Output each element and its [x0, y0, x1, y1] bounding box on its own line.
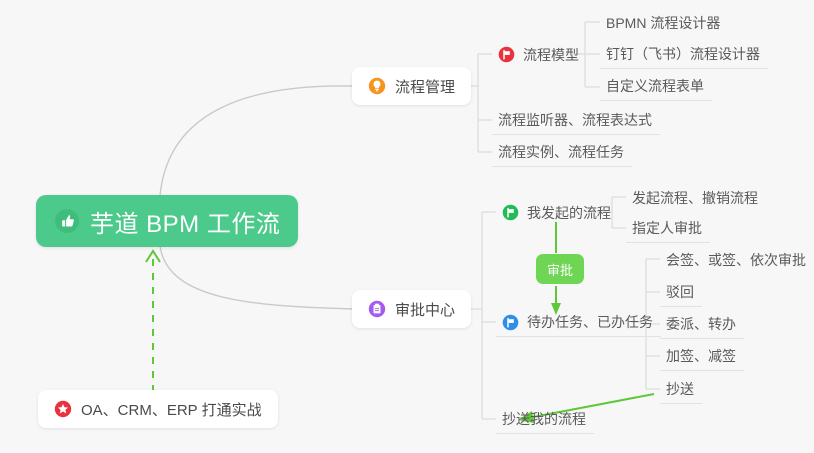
node-label-cc: 抄送 — [666, 379, 694, 399]
node-label-reject: 驳回 — [666, 282, 694, 302]
node-label-add-remove-sign: 加签、减签 — [666, 346, 736, 366]
node-label-my-initiated-process: 我发起的流程 — [527, 203, 611, 223]
node-process-instance-task[interactable]: 流程实例、流程任务 — [492, 138, 632, 167]
branch-label-process-management: 流程管理 — [395, 76, 455, 97]
star-icon — [54, 400, 72, 418]
node-label-countersign: 会签、或签、依次审批 — [666, 250, 806, 270]
node-process-model[interactable]: 流程模型 — [492, 40, 587, 69]
clipboard-icon — [368, 300, 386, 318]
node-add-remove-sign[interactable]: 加签、减签 — [660, 342, 744, 371]
root-node[interactable]: 芋道 BPM 工作流 — [36, 195, 298, 247]
node-cc-to-me-process[interactable]: 抄送我的流程 — [496, 405, 594, 434]
flag-icon — [498, 46, 515, 63]
node-bpmn-designer[interactable]: BPMN 流程设计器 — [600, 8, 728, 37]
integration-node-label: OA、CRM、ERP 打通实战 — [81, 399, 262, 420]
branch-node-process-management[interactable]: 流程管理 — [352, 67, 471, 105]
approval-badge[interactable]: 审批 — [536, 254, 584, 284]
node-label-process-model: 流程模型 — [523, 45, 579, 65]
node-label-custom-process-form: 自定义流程表单 — [606, 76, 704, 96]
node-label-process-instance-task: 流程实例、流程任务 — [498, 142, 624, 162]
node-label-delegate-transfer: 委派、转办 — [666, 314, 736, 334]
node-countersign[interactable]: 会签、或签、依次审批 — [660, 245, 814, 274]
lightbulb-icon — [368, 77, 386, 95]
node-start-cancel-process[interactable]: 发起流程、撤销流程 — [626, 183, 766, 212]
node-label-start-cancel-process: 发起流程、撤销流程 — [632, 188, 758, 208]
node-label-todo-done-tasks: 待办任务、已办任务 — [527, 312, 653, 332]
node-label-dingtalk-feishu-designer: 钉钉（飞书）流程设计器 — [606, 44, 760, 64]
flag-icon — [502, 314, 519, 331]
node-todo-done-tasks[interactable]: 待办任务、已办任务 — [496, 308, 661, 337]
node-delegate-transfer[interactable]: 委派、转办 — [660, 310, 744, 339]
arrowhead-up — [146, 251, 160, 262]
node-label-assignee-approval: 指定人审批 — [632, 218, 702, 238]
node-my-initiated-process[interactable]: 我发起的流程 — [496, 198, 619, 227]
root-label: 芋道 BPM 工作流 — [90, 204, 280, 239]
node-custom-process-form[interactable]: 自定义流程表单 — [600, 72, 712, 101]
mindmap-canvas: 芋道 BPM 工作流 流程管理 流程模型 BPMN 流程设计器 钉钉（飞书）流程 — [0, 0, 814, 453]
branch-label-approval-center: 审批中心 — [395, 299, 455, 320]
node-dingtalk-feishu-designer[interactable]: 钉钉（飞书）流程设计器 — [600, 40, 768, 69]
node-label-cc-to-me-process: 抄送我的流程 — [502, 409, 586, 429]
node-label-bpmn-designer: BPMN 流程设计器 — [606, 13, 720, 33]
thumbs-up-icon — [54, 208, 80, 234]
flag-icon — [502, 204, 519, 221]
approval-badge-label: 审批 — [547, 260, 573, 279]
node-process-listener-expression[interactable]: 流程监听器、流程表达式 — [492, 106, 660, 135]
integration-node[interactable]: OA、CRM、ERP 打通实战 — [38, 390, 278, 428]
branch-node-approval-center[interactable]: 审批中心 — [352, 290, 471, 328]
node-cc[interactable]: 抄送 — [660, 375, 702, 404]
node-assignee-approval[interactable]: 指定人审批 — [626, 214, 710, 243]
node-reject[interactable]: 驳回 — [660, 278, 702, 307]
node-label-process-listener-expression: 流程监听器、流程表达式 — [498, 110, 652, 130]
